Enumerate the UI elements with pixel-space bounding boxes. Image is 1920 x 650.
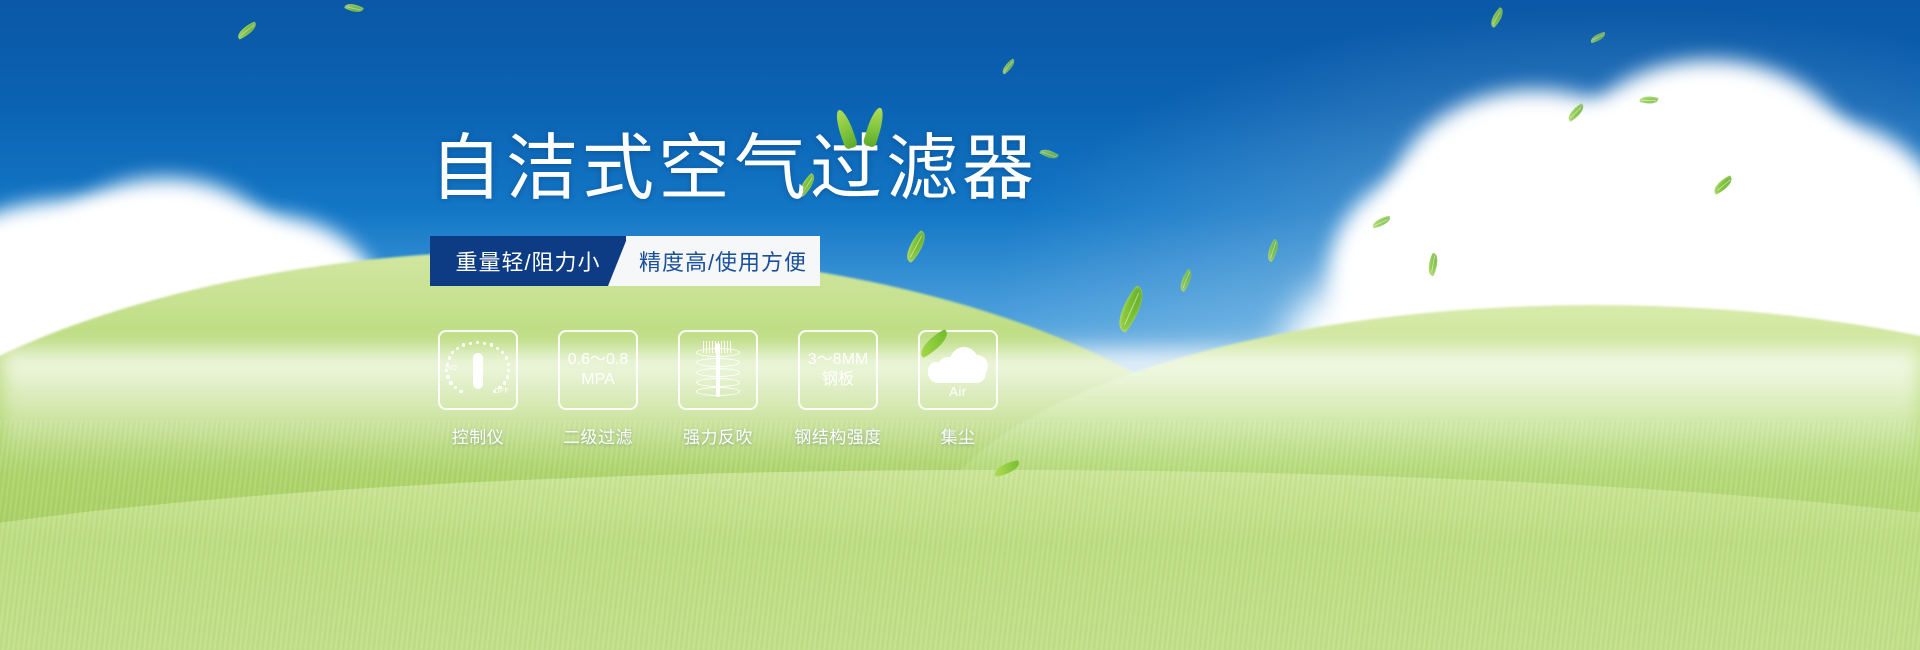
feature-list: NO OFF 控制仪 0.6～0.8 MPA 二级过滤 <box>430 330 1006 448</box>
page-title: 自洁式空气过滤器 <box>430 133 1038 205</box>
feature-icon-box <box>678 330 758 410</box>
feature-item-dustcollect[interactable]: Air 集尘 <box>910 330 1006 448</box>
tab-lightweight-lowresistance[interactable]: 重量轻/阻力小 <box>430 236 626 286</box>
steel-text-icon: 3～8MM 钢板 <box>808 350 868 389</box>
filter-layers-icon <box>689 341 747 399</box>
tagline-tabs: 重量轻/阻力小 精度高/使用方便 <box>430 236 820 286</box>
tab-precision-easyuse[interactable]: 精度高/使用方便 <box>626 236 820 286</box>
hero-banner: 自洁式空气过滤器 重量轻/阻力小 精度高/使用方便 <box>0 0 1920 650</box>
feature-caption: 强力反吹 <box>683 423 753 448</box>
leaf-icon <box>833 108 858 150</box>
gauge-needle <box>473 353 483 389</box>
feature-item-pressure[interactable]: 0.6～0.8 MPA 二级过滤 <box>550 330 646 448</box>
tab-label: 重量轻/阻力小 <box>455 245 600 277</box>
feature-icon-box: NO OFF <box>438 330 518 410</box>
leaf-icon <box>862 106 886 148</box>
feature-caption: 控制仪 <box>452 423 505 448</box>
leaf-icon <box>993 460 1021 477</box>
feature-icon-box: 0.6～0.8 MPA <box>558 330 638 410</box>
gauge-label-no: NO <box>446 365 457 372</box>
feature-caption: 二级过滤 <box>563 423 633 448</box>
feature-icon-box: Air <box>918 330 998 410</box>
banner-content: 自洁式空气过滤器 重量轻/阻力小 精度高/使用方便 <box>0 0 1920 650</box>
air-label: Air <box>926 384 990 399</box>
feature-item-controller[interactable]: NO OFF 控制仪 <box>430 330 526 448</box>
leaf-icon <box>916 329 952 358</box>
gauge-icon: NO OFF <box>447 341 509 399</box>
tab-label: 精度高/使用方便 <box>639 245 807 277</box>
air-cloud-icon: Air <box>926 343 990 397</box>
feature-item-backblow[interactable]: 强力反吹 <box>670 330 766 448</box>
title-leaf-icon <box>835 105 895 149</box>
feature-item-steel[interactable]: 3～8MM 钢板 钢结构强度 <box>790 330 886 448</box>
feature-caption: 集尘 <box>941 423 976 448</box>
feature-icon-box: 3～8MM 钢板 <box>798 330 878 410</box>
pressure-text-icon: 0.6～0.8 MPA <box>568 350 629 389</box>
gauge-label-off: OFF <box>494 388 509 395</box>
feature-caption: 钢结构强度 <box>794 423 882 448</box>
